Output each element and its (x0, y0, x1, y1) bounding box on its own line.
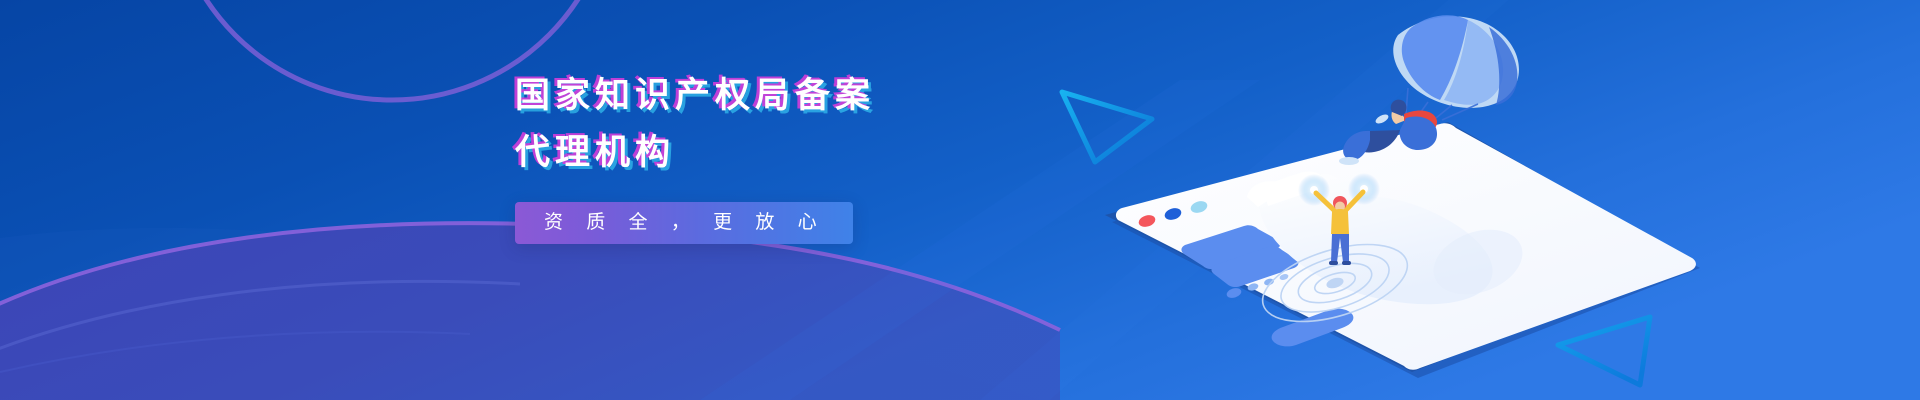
bullet-dot-1 (1225, 286, 1242, 299)
headline-line-1: 国家知识产权局备案 (515, 78, 1075, 113)
person-shirt (1331, 209, 1349, 234)
tagline-pill: 资 质 全 ， 更 放 心 (515, 202, 853, 244)
promo-banner: 国家知识产权局备案 代理机构 资 质 全 ， 更 放 心 (0, 0, 1920, 400)
tagline-text: 资 质 全 ， 更 放 心 (542, 212, 826, 233)
banner-copy: 国家知识产权局备案 代理机构 资 质 全 ， 更 放 心 (515, 78, 1075, 244)
isometric-dashboard-card (1105, 122, 1700, 378)
parachutist (1339, 15, 1519, 165)
tagline-wrapper: 资 质 全 ， 更 放 心 (515, 202, 1075, 244)
headline-line-2: 代理机构 (515, 135, 1075, 170)
